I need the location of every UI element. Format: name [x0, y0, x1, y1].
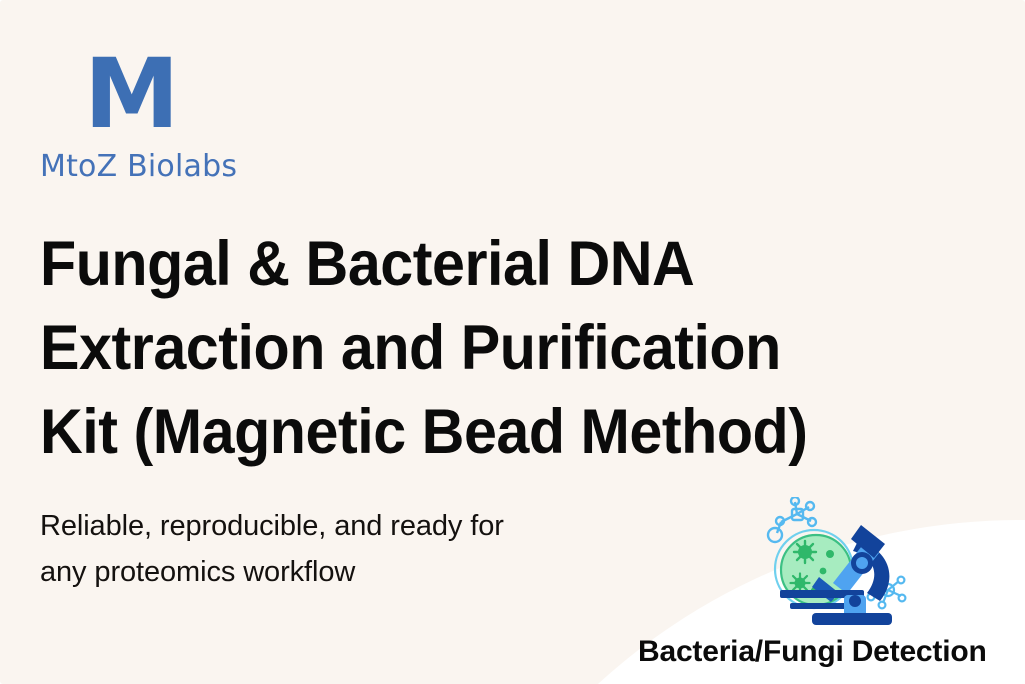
page-title: Fungal & Bacterial DNA Extraction and Pu… — [40, 222, 940, 474]
headline-line-1: Fungal & Bacterial DNA — [40, 222, 886, 306]
brand-logo[interactable]: M MtoZ Biolabs — [40, 46, 360, 184]
illustration-caption: Bacteria/Fungi Detection — [638, 634, 987, 670]
headline-line-2: Extraction and Purification — [40, 306, 886, 390]
brand-name: MtoZ Biolabs — [40, 150, 360, 184]
microscope-petri-dish-illustration — [757, 497, 927, 627]
page-subtitle: Reliable, reproducible, and ready for an… — [40, 503, 640, 595]
letter-m-logo-icon: M — [84, 46, 360, 142]
headline-line-3: Kit (Magnetic Bead Method) — [40, 390, 886, 474]
subtitle-line-1: Reliable, reproducible, and ready for — [40, 503, 640, 549]
promo-poster: M MtoZ Biolabs Fungal & Bacterial DNA Ex… — [0, 0, 1025, 684]
subtitle-line-2: any proteomics workflow — [40, 549, 640, 595]
